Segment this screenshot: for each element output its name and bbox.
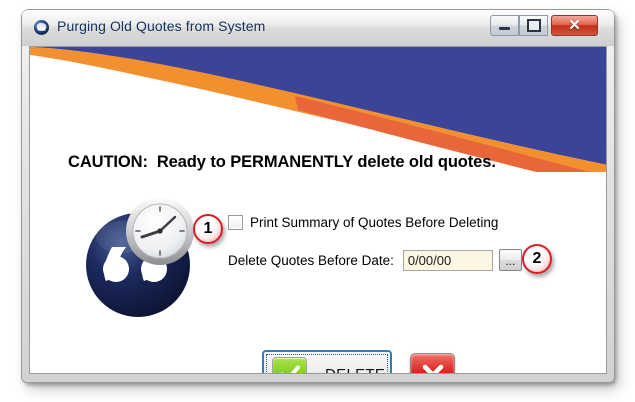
- maximize-button[interactable]: [519, 15, 548, 36]
- minimize-icon: [499, 27, 510, 30]
- close-icon: ✕: [568, 18, 581, 33]
- close-button[interactable]: ✕: [551, 15, 598, 36]
- print-summary-label: Print Summary of Quotes Before Deleting: [250, 215, 498, 230]
- date-browse-button[interactable]: ...: [499, 249, 522, 271]
- callout-badge-1: 1: [193, 214, 223, 244]
- application-window: Purging Old Quotes from System ✕ CAUTION…: [22, 10, 614, 382]
- print-summary-checkbox[interactable]: [228, 215, 243, 230]
- red-x-icon: [420, 362, 446, 375]
- title-bar: Purging Old Quotes from System ✕: [22, 10, 614, 46]
- delete-button[interactable]: DELETE: [262, 350, 392, 374]
- maximize-icon: [527, 19, 541, 32]
- delete-before-date-row: Delete Quotes Before Date: ...: [228, 249, 522, 271]
- app-sphere-icon: [33, 19, 50, 36]
- print-summary-row[interactable]: Print Summary of Quotes Before Deleting: [228, 215, 498, 230]
- green-check-icon: [272, 357, 307, 375]
- client-area: CAUTION: Ready to PERMANENTLY delete old…: [29, 46, 607, 374]
- callout-badge-2: 2: [522, 244, 552, 274]
- window-title: Purging Old Quotes from System: [57, 18, 265, 34]
- clock-and-quote-sphere-icon: [78, 187, 208, 322]
- delete-before-date-input[interactable]: [403, 250, 493, 271]
- minimize-button[interactable]: [490, 15, 519, 36]
- cancel-button[interactable]: [410, 353, 455, 374]
- check-glyph: [278, 362, 302, 374]
- delete-before-date-label: Delete Quotes Before Date:: [228, 253, 394, 268]
- caution-message: CAUTION: Ready to PERMANENTLY delete old…: [68, 153, 496, 172]
